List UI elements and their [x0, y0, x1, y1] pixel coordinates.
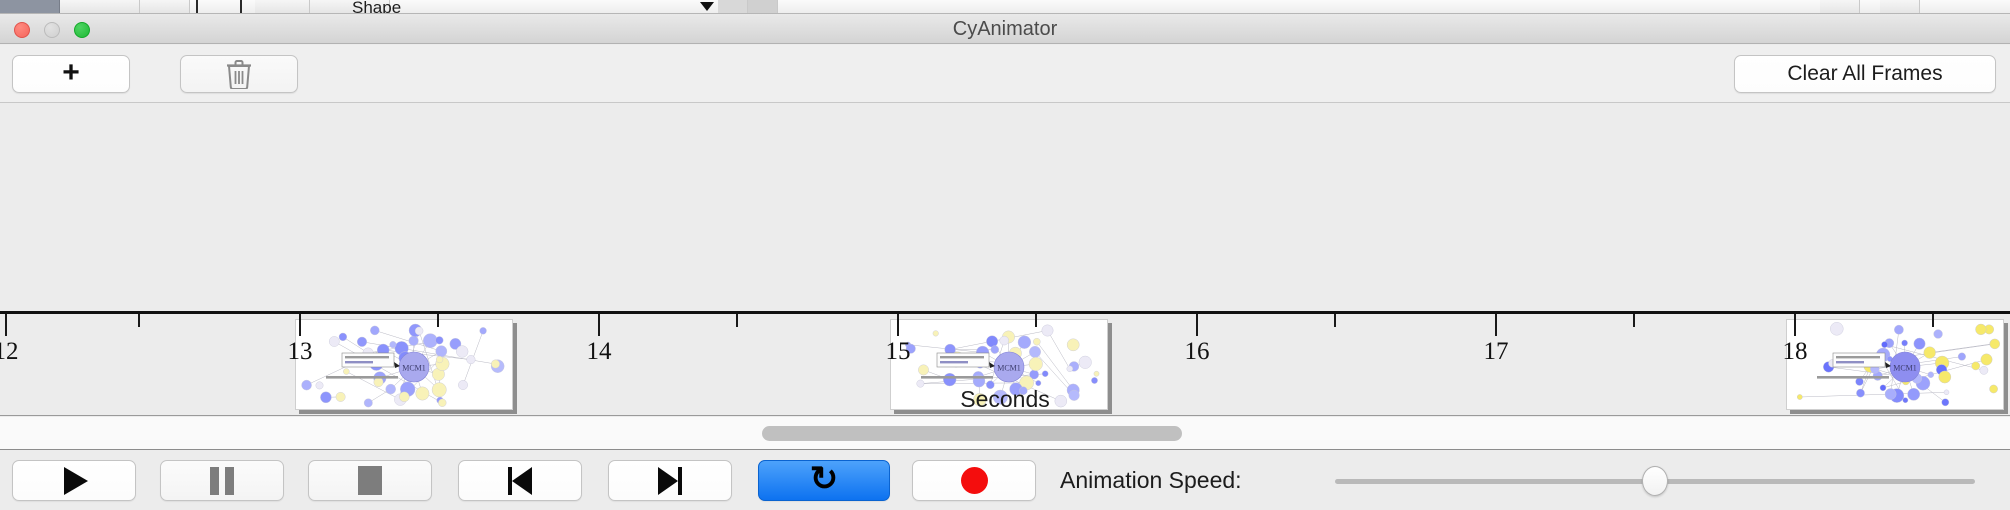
toolbar: + Clear All Frames	[0, 45, 2010, 103]
ruler-tick-major	[299, 314, 301, 336]
pause-button[interactable]	[160, 460, 284, 501]
bg-tab-2	[140, 0, 190, 14]
timeline-ruler: Seconds 12131415161718	[0, 311, 2010, 416]
ruler-tick-label: 13	[288, 338, 313, 366]
ruler-tick-label: 18	[1783, 338, 1808, 366]
ruler-tick-label: 14	[587, 338, 612, 366]
ruler-tick-label: 16	[1185, 338, 1210, 366]
bg-tab-7	[1820, 0, 1860, 14]
ruler-tick-major	[598, 314, 600, 336]
animation-speed-slider[interactable]	[1335, 460, 1975, 501]
skip-back-button[interactable]	[458, 460, 582, 501]
ruler-tick-minor	[1334, 314, 1336, 327]
ruler-tick-major	[1495, 314, 1497, 336]
ruler-tick-major	[1196, 314, 1198, 336]
ruler-tick-major	[5, 314, 7, 336]
bg-tab-8	[1880, 0, 1920, 14]
ruler-tick-major	[897, 314, 899, 336]
stop-icon	[358, 466, 382, 495]
stop-button[interactable]	[308, 460, 432, 501]
window-title: CyAnimator	[0, 14, 2010, 44]
window-titlebar: CyAnimator	[0, 14, 2010, 44]
skip-forward-icon	[658, 467, 682, 495]
ruler-tick-minor	[437, 314, 439, 327]
bg-mark-2	[240, 0, 242, 14]
loop-icon: ↻	[810, 462, 839, 496]
ruler-tick-label: 17	[1484, 338, 1509, 366]
animation-speed-label: Animation Speed:	[1060, 460, 1242, 501]
bg-tab-5	[718, 0, 748, 14]
bg-tab-3	[255, 0, 310, 14]
bg-tab-6	[748, 0, 778, 14]
plus-icon: +	[62, 58, 80, 88]
ruler-tick-label: 15	[886, 338, 911, 366]
ruler-tick-major	[1794, 314, 1796, 336]
ruler-tick-minor	[138, 314, 140, 327]
bg-mark-1	[196, 0, 198, 14]
play-button[interactable]	[12, 460, 136, 501]
ruler-tick-minor	[1932, 314, 1934, 327]
bg-tab-1	[60, 0, 140, 14]
ruler-tick-minor	[1035, 314, 1037, 327]
slider-thumb[interactable]	[1642, 466, 1668, 496]
clear-all-frames-button[interactable]: Clear All Frames	[1734, 55, 1996, 93]
horizontal-scrollbar[interactable]	[0, 417, 2010, 450]
playback-controls: ↻ Animation Speed:	[0, 451, 2010, 510]
trash-icon	[226, 59, 252, 89]
clear-all-frames-label: Clear All Frames	[1787, 62, 1942, 86]
background-window-strip: Shape	[0, 0, 2010, 14]
ruler-tick-label: 12	[0, 338, 19, 366]
axis-title: Seconds	[0, 386, 2010, 413]
pause-icon	[210, 467, 234, 495]
bg-wedge-icon	[700, 2, 714, 11]
record-button[interactable]	[912, 460, 1036, 501]
bg-tab-dark	[0, 0, 60, 14]
skip-forward-button[interactable]	[608, 460, 732, 501]
ruler-tick-minor	[1633, 314, 1635, 327]
bg-window-label: Shape	[352, 0, 401, 14]
loop-button[interactable]: ↻	[758, 460, 890, 501]
frames-area[interactable]: MCM1MCM1MCM1	[0, 104, 2010, 312]
timeline-panel[interactable]: MCM1MCM1MCM1 Seconds 12131415161718	[0, 104, 2010, 416]
skip-back-icon	[508, 467, 532, 495]
record-icon	[961, 467, 988, 494]
scrollbar-thumb[interactable]	[762, 426, 1182, 441]
ruler-baseline	[0, 311, 2010, 314]
ruler-tick-minor	[736, 314, 738, 327]
delete-frame-button[interactable]	[180, 55, 298, 93]
add-frame-button[interactable]: +	[12, 55, 130, 93]
play-icon	[64, 467, 88, 495]
